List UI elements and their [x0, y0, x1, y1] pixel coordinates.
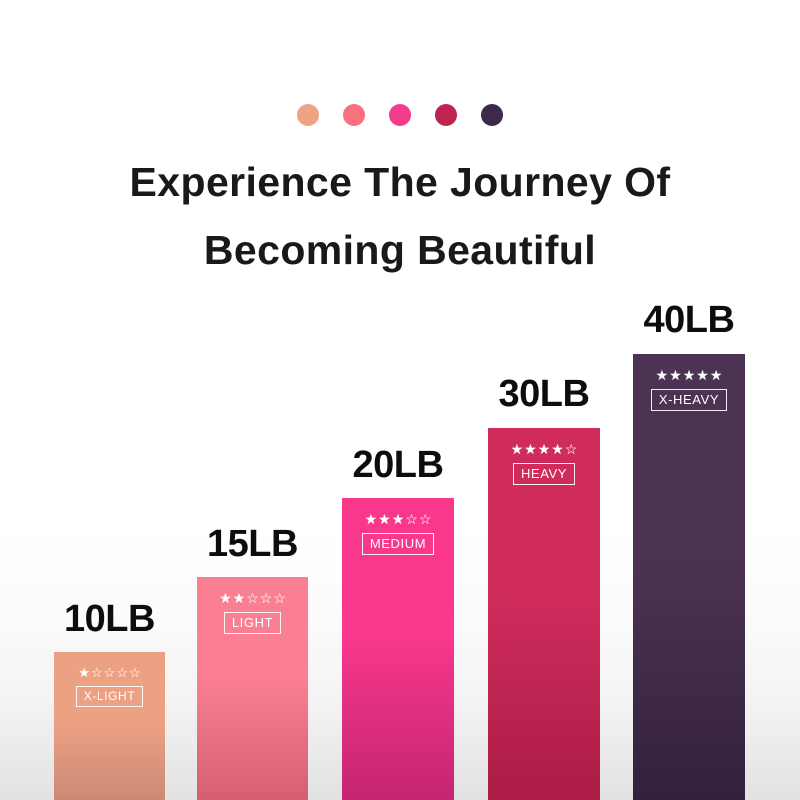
bar-level-label: MEDIUM	[362, 533, 434, 555]
bar-group-30lb[interactable]: 30LB★★★★☆HEAVY	[488, 428, 600, 800]
bar-group-10lb[interactable]: 10LB★☆☆☆☆X-LIGHT	[54, 652, 165, 800]
poster-canvas: Experience The Journey Of Becoming Beaut…	[0, 0, 800, 800]
star-rating: ★★★☆☆	[365, 512, 432, 526]
star-filled-icon: ★	[683, 368, 696, 382]
star-filled-icon: ★	[524, 442, 537, 456]
bar-column[interactable]: ★★★★☆HEAVY	[488, 428, 600, 800]
star-filled-icon: ★	[551, 442, 564, 456]
star-filled-icon: ★	[78, 666, 90, 679]
bar-badge: ★★☆☆☆LIGHT	[197, 591, 308, 634]
bar-group-15lb[interactable]: 15LB★★☆☆☆LIGHT	[197, 577, 308, 800]
star-filled-icon: ★	[392, 512, 405, 526]
star-rating: ★★★★★	[656, 368, 723, 382]
bar-weight-label: 10LB	[54, 600, 165, 638]
star-empty-icon: ☆	[405, 512, 418, 526]
bar-badge: ★☆☆☆☆X-LIGHT	[54, 666, 165, 707]
star-filled-icon: ★	[378, 512, 391, 526]
star-filled-icon: ★	[538, 442, 551, 456]
star-filled-icon: ★	[511, 442, 524, 456]
star-empty-icon: ☆	[91, 666, 103, 679]
bar-badge: ★★★★☆HEAVY	[488, 442, 600, 485]
bar-weight-label: 20LB	[342, 446, 454, 484]
bar-column[interactable]: ★★★☆☆MEDIUM	[342, 498, 454, 800]
bar-level-label: X-LIGHT	[76, 686, 144, 707]
bar-group-20lb[interactable]: 20LB★★★☆☆MEDIUM	[342, 498, 454, 800]
star-rating: ★☆☆☆☆	[78, 666, 140, 679]
star-filled-icon: ★	[219, 591, 232, 605]
bar-weight-label: 30LB	[488, 375, 600, 413]
star-filled-icon: ★	[669, 368, 682, 382]
bar-badge: ★★★☆☆MEDIUM	[342, 512, 454, 555]
star-empty-icon: ☆	[419, 512, 432, 526]
star-filled-icon: ★	[233, 591, 246, 605]
bar-level-label: HEAVY	[513, 463, 575, 485]
star-empty-icon: ☆	[565, 442, 578, 456]
star-empty-icon: ☆	[129, 666, 141, 679]
star-filled-icon: ★	[696, 368, 709, 382]
star-filled-icon: ★	[365, 512, 378, 526]
bar-level-label: LIGHT	[224, 612, 281, 634]
star-filled-icon: ★	[656, 368, 669, 382]
star-empty-icon: ☆	[104, 666, 116, 679]
star-empty-icon: ☆	[116, 666, 128, 679]
bar-weight-label: 40LB	[633, 301, 745, 339]
bar-badge: ★★★★★X-HEAVY	[633, 368, 745, 411]
bar-column[interactable]: ★★★★★X-HEAVY	[633, 354, 745, 800]
star-rating: ★★★★☆	[511, 442, 578, 456]
bar-column[interactable]: ★★☆☆☆LIGHT	[197, 577, 308, 800]
bar-column[interactable]: ★☆☆☆☆X-LIGHT	[54, 652, 165, 800]
star-empty-icon: ☆	[273, 591, 286, 605]
bar-group-40lb[interactable]: 40LB★★★★★X-HEAVY	[633, 354, 745, 800]
star-empty-icon: ☆	[260, 591, 273, 605]
star-filled-icon: ★	[710, 368, 723, 382]
bar-level-label: X-HEAVY	[651, 389, 727, 411]
star-empty-icon: ☆	[246, 591, 259, 605]
bar-weight-label: 15LB	[197, 525, 308, 563]
resistance-bar-chart: 10LB★☆☆☆☆X-LIGHT15LB★★☆☆☆LIGHT20LB★★★☆☆M…	[0, 0, 800, 800]
star-rating: ★★☆☆☆	[219, 591, 286, 605]
